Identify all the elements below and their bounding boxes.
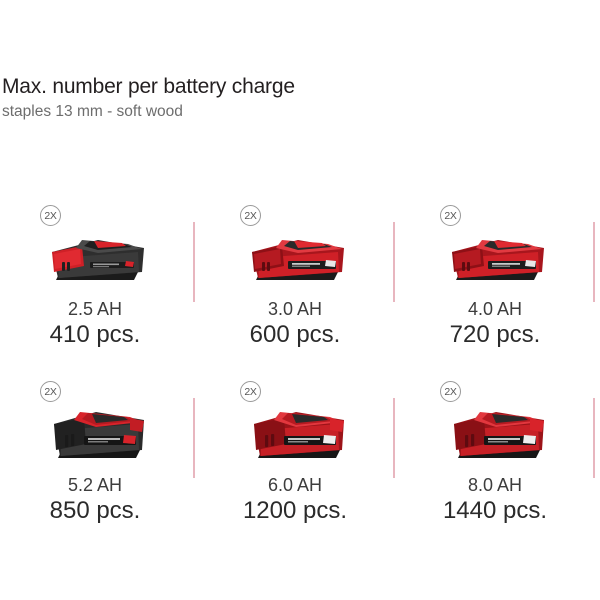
cell-caption: 8.0 AH 1440 pcs. (400, 474, 590, 525)
cell-divider (593, 222, 595, 302)
cell-caption: 3.0 AH 600 pcs. (200, 298, 390, 349)
battery-grid-row: 2X (0, 372, 600, 548)
battery-cell-2-5ah: 2X (0, 196, 200, 372)
battery-cell-4-0ah: 2X (400, 196, 600, 372)
infographic-page: Max. number per battery charge staples 1… (0, 0, 600, 600)
count-label: 850 pcs. (0, 497, 190, 525)
battery-cell-6-0ah: 2X (200, 372, 400, 548)
cell-divider (193, 398, 195, 478)
count-label: 1440 pcs. (400, 497, 590, 525)
header: Max. number per battery charge staples 1… (2, 74, 562, 122)
battery-pack-icon (438, 398, 558, 474)
count-label: 1200 pcs. (200, 497, 390, 525)
page-title: Max. number per battery charge (2, 74, 562, 100)
cell-caption: 5.2 AH 850 pcs. (0, 474, 190, 525)
count-label: 720 pcs. (400, 321, 590, 349)
capacity-label: 2.5 AH (0, 298, 190, 321)
capacity-label: 4.0 AH (400, 298, 590, 321)
cell-divider (393, 398, 395, 478)
battery-pack-icon (38, 222, 158, 298)
battery-pack-icon (238, 222, 358, 298)
count-label: 600 pcs. (200, 321, 390, 349)
cell-caption: 4.0 AH 720 pcs. (400, 298, 590, 349)
page-subtitle: staples 13 mm - soft wood (2, 102, 562, 122)
cell-divider (393, 222, 395, 302)
battery-pack-icon (38, 398, 158, 474)
capacity-label: 5.2 AH (0, 474, 190, 497)
capacity-label: 8.0 AH (400, 474, 590, 497)
cell-caption: 6.0 AH 1200 pcs. (200, 474, 390, 525)
battery-cell-3-0ah: 2X (200, 196, 400, 372)
cell-divider (593, 398, 595, 478)
battery-grid-row: 2X (0, 196, 600, 372)
battery-pack-icon (438, 222, 558, 298)
battery-cell-8-0ah: 2X (400, 372, 600, 548)
count-label: 410 pcs. (0, 321, 190, 349)
battery-pack-icon (238, 398, 358, 474)
cell-caption: 2.5 AH 410 pcs. (0, 298, 190, 349)
capacity-label: 6.0 AH (200, 474, 390, 497)
cell-divider (193, 222, 195, 302)
battery-cell-5-2ah: 2X (0, 372, 200, 548)
capacity-label: 3.0 AH (200, 298, 390, 321)
battery-grid: 2X (0, 196, 600, 548)
